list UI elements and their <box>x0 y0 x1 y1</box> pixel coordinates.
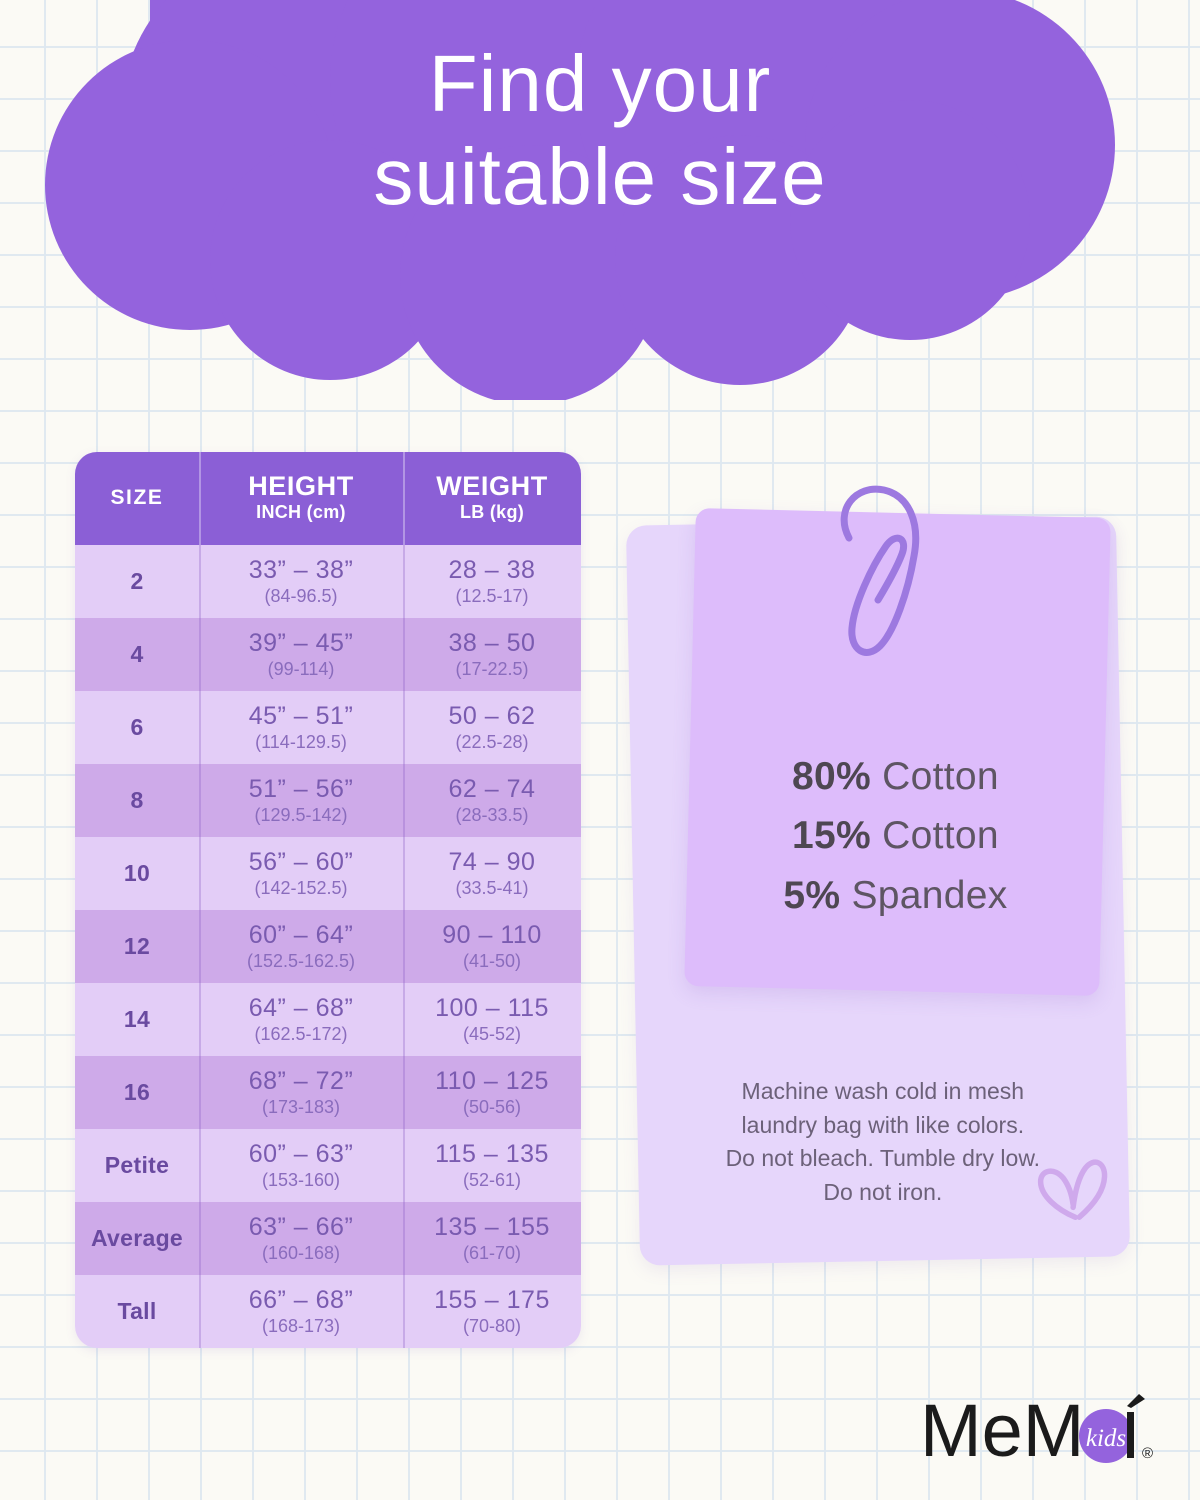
cell-weight: 155 – 175(70-80) <box>403 1275 581 1348</box>
height-inches: 39” – 45” <box>249 629 354 658</box>
size-chart-table: SIZE HEIGHT INCH (cm) WEIGHT LB (kg) 233… <box>75 452 581 1348</box>
header-cell-weight: WEIGHT LB (kg) <box>403 452 581 545</box>
height-cm: (114-129.5) <box>255 732 347 753</box>
weight-kg: (61-70) <box>463 1243 521 1264</box>
kids-badge-label: kids <box>1086 1425 1126 1452</box>
cell-size: 14 <box>75 983 199 1056</box>
size-label: 8 <box>130 787 143 814</box>
height-cm: (153-160) <box>262 1170 340 1191</box>
table-row: Average63” – 66”(160-168)135 – 155(61-70… <box>75 1202 581 1275</box>
weight-lb: 110 – 125 <box>435 1067 549 1096</box>
cell-size: Petite <box>75 1129 199 1202</box>
size-label: Petite <box>105 1152 169 1179</box>
height-cm: (99-114) <box>268 659 335 680</box>
weight-kg: (45-52) <box>463 1024 521 1045</box>
cell-size: 4 <box>75 618 199 691</box>
table-row: 645” – 51”(114-129.5)50 – 62(22.5-28) <box>75 691 581 764</box>
size-label: Tall <box>117 1298 156 1325</box>
cell-height: 68” – 72”(173-183) <box>199 1056 403 1129</box>
cell-size: 2 <box>75 545 199 618</box>
header-sublabel-weight: LB (kg) <box>460 502 524 523</box>
height-inches: 68” – 72” <box>249 1067 354 1096</box>
height-inches: 66” – 68” <box>249 1286 354 1315</box>
weight-kg: (28-33.5) <box>455 805 528 826</box>
composition-pct-2: 15% <box>792 814 871 857</box>
size-label: 2 <box>130 568 143 595</box>
header-cell-height: HEIGHT INCH (cm) <box>199 452 403 545</box>
cell-height: 63” – 66”(160-168) <box>199 1202 403 1275</box>
cell-height: 39” – 45”(99-114) <box>199 618 403 691</box>
composition-line-1: 80% Cotton <box>688 747 1103 806</box>
composition-pct-1: 80% <box>792 755 871 798</box>
composition-line-3: 5% Spandex <box>688 866 1103 925</box>
cell-weight: 135 – 155(61-70) <box>403 1202 581 1275</box>
weight-lb: 74 – 90 <box>449 848 536 877</box>
cell-height: 56” – 60”(142-152.5) <box>199 837 403 910</box>
logo-i-accent <box>1127 1394 1145 1408</box>
height-cm: (162.5-172) <box>254 1024 347 1045</box>
cell-size: 10 <box>75 837 199 910</box>
height-cm: (173-183) <box>262 1097 340 1118</box>
heart-doodle-icon <box>1030 1155 1111 1235</box>
height-cm: (84-96.5) <box>264 586 337 607</box>
size-label: 10 <box>124 860 150 887</box>
weight-kg: (41-50) <box>463 951 521 972</box>
cell-weight: 110 – 125(50-56) <box>403 1056 581 1129</box>
header-cell-size: SIZE <box>75 452 199 545</box>
size-label: Average <box>91 1225 183 1252</box>
height-inches: 63” – 66” <box>249 1213 354 1242</box>
weight-lb: 28 – 38 <box>449 556 536 585</box>
logo-i-stem <box>1127 1412 1134 1458</box>
height-inches: 64” – 68” <box>249 994 354 1023</box>
composition-material-3: Spandex <box>851 874 1007 917</box>
brand-logo: MeMo kids ® <box>920 1398 1170 1478</box>
header-label-weight: WEIGHT <box>436 472 548 500</box>
height-inches: 45” – 51” <box>249 702 354 731</box>
height-cm: (152.5-162.5) <box>247 951 355 972</box>
weight-lb: 90 – 110 <box>442 921 541 950</box>
weight-kg: (22.5-28) <box>455 732 528 753</box>
cell-height: 45” – 51”(114-129.5) <box>199 691 403 764</box>
infographic-page: Find your suitable size SIZE HEIGHT INCH… <box>0 0 1200 1500</box>
weight-lb: 155 – 175 <box>434 1286 550 1315</box>
cell-size: Average <box>75 1202 199 1275</box>
composition-material-2: Cotton <box>882 814 999 857</box>
care-line-2: laundry bag with like colors. <box>638 1109 1128 1143</box>
cell-size: 8 <box>75 764 199 837</box>
table-row: 439” – 45”(99-114)38 – 50(17-22.5) <box>75 618 581 691</box>
table-header-row: SIZE HEIGHT INCH (cm) WEIGHT LB (kg) <box>75 452 581 545</box>
size-label: 4 <box>130 641 143 668</box>
weight-lb: 38 – 50 <box>449 629 536 658</box>
cell-size: 6 <box>75 691 199 764</box>
weight-kg: (52-61) <box>463 1170 521 1191</box>
cell-height: 66” – 68”(168-173) <box>199 1275 403 1348</box>
weight-kg: (17-22.5) <box>455 659 528 680</box>
height-cm: (168-173) <box>262 1316 340 1337</box>
composition-pct-3: 5% <box>783 874 840 917</box>
cell-weight: 38 – 50(17-22.5) <box>403 618 581 691</box>
weight-kg: (33.5-41) <box>455 878 528 899</box>
composition-line-2: 15% Cotton <box>688 806 1103 865</box>
cell-weight: 50 – 62(22.5-28) <box>403 691 581 764</box>
weight-lb: 62 – 74 <box>449 775 536 804</box>
table-row: 1464” – 68”(162.5-172)100 – 115(45-52) <box>75 983 581 1056</box>
composition-material-1: Cotton <box>882 755 999 798</box>
weight-kg: (70-80) <box>463 1316 521 1337</box>
table-row: 1056” – 60”(142-152.5)74 – 90(33.5-41) <box>75 837 581 910</box>
cell-height: 60” – 63”(153-160) <box>199 1129 403 1202</box>
cell-height: 60” – 64”(152.5-162.5) <box>199 910 403 983</box>
size-label: 6 <box>130 714 143 741</box>
height-cm: (160-168) <box>262 1243 340 1264</box>
cell-weight: 115 – 135(52-61) <box>403 1129 581 1202</box>
table-row: Tall66” – 68”(168-173)155 – 175(70-80) <box>75 1275 581 1348</box>
cell-height: 64” – 68”(162.5-172) <box>199 983 403 1056</box>
cell-weight: 100 – 115(45-52) <box>403 983 581 1056</box>
weight-lb: 135 – 155 <box>434 1213 550 1242</box>
paperclip-icon <box>816 480 946 670</box>
cell-weight: 74 – 90(33.5-41) <box>403 837 581 910</box>
page-title-line1: Find your <box>0 38 1200 131</box>
weight-kg: (50-56) <box>463 1097 521 1118</box>
logo-trademark: ® <box>1142 1445 1153 1462</box>
header-label-height: HEIGHT <box>248 472 354 500</box>
height-inches: 51” – 56” <box>249 775 354 804</box>
table-row: 851” – 56”(129.5-142)62 – 74(28-33.5) <box>75 764 581 837</box>
weight-kg: (12.5-17) <box>455 586 528 607</box>
cell-weight: 28 – 38(12.5-17) <box>403 545 581 618</box>
table-row: 1668” – 72”(173-183)110 – 125(50-56) <box>75 1056 581 1129</box>
page-title: Find your suitable size <box>0 38 1200 224</box>
table-row: 1260” – 64”(152.5-162.5)90 – 110(41-50) <box>75 910 581 983</box>
weight-lb: 100 – 115 <box>435 994 549 1023</box>
size-label: 14 <box>124 1006 150 1033</box>
height-inches: 56” – 60” <box>249 848 354 877</box>
cell-size: 16 <box>75 1056 199 1129</box>
note-stack: Machine wash cold in mesh laundry bag wi… <box>620 495 1130 1275</box>
height-cm: (142-152.5) <box>254 878 347 899</box>
size-label: 12 <box>124 933 150 960</box>
table-row: Petite60” – 63”(153-160)115 – 135(52-61) <box>75 1129 581 1202</box>
height-inches: 60” – 63” <box>249 1140 354 1169</box>
weight-lb: 115 – 135 <box>435 1140 549 1169</box>
header-label-size: SIZE <box>110 486 163 510</box>
height-inches: 33” – 38” <box>249 556 354 585</box>
table-row: 233” – 38”(84-96.5)28 – 38(12.5-17) <box>75 545 581 618</box>
page-title-line2: suitable size <box>0 131 1200 224</box>
cell-weight: 90 – 110(41-50) <box>403 910 581 983</box>
size-label: 16 <box>124 1079 150 1106</box>
cell-weight: 62 – 74(28-33.5) <box>403 764 581 837</box>
logo-svg: MeMo kids ® <box>920 1394 1170 1478</box>
care-line-1: Machine wash cold in mesh <box>638 1075 1128 1109</box>
table-body: 233” – 38”(84-96.5)28 – 38(12.5-17)439” … <box>75 545 581 1348</box>
cell-size: 12 <box>75 910 199 983</box>
height-inches: 60” – 64” <box>249 921 354 950</box>
fabric-composition-text: 80% Cotton 15% Cotton 5% Spandex <box>688 747 1103 925</box>
weight-lb: 50 – 62 <box>449 702 536 731</box>
header-sublabel-height: INCH (cm) <box>256 502 346 523</box>
height-cm: (129.5-142) <box>254 805 347 826</box>
cell-height: 51” – 56”(129.5-142) <box>199 764 403 837</box>
cell-size: Tall <box>75 1275 199 1348</box>
cell-height: 33” – 38”(84-96.5) <box>199 545 403 618</box>
